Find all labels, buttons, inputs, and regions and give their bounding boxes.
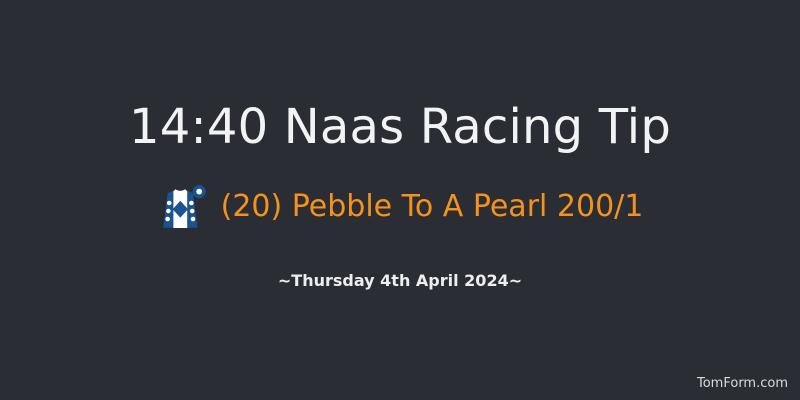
- racing-tip-card: 14:40 Naas Racing Tip: [0, 0, 800, 400]
- selection-label: (20) Pebble To A Pearl 200/1: [221, 187, 644, 227]
- site-watermark: TomForm.com: [697, 375, 788, 393]
- race-date: ~Thursday 4th April 2024~: [0, 270, 800, 292]
- jockey-silks-icon: [157, 183, 207, 231]
- page-title: 14:40 Naas Racing Tip: [0, 99, 800, 155]
- selection-row[interactable]: (20) Pebble To A Pearl 200/1: [0, 183, 800, 231]
